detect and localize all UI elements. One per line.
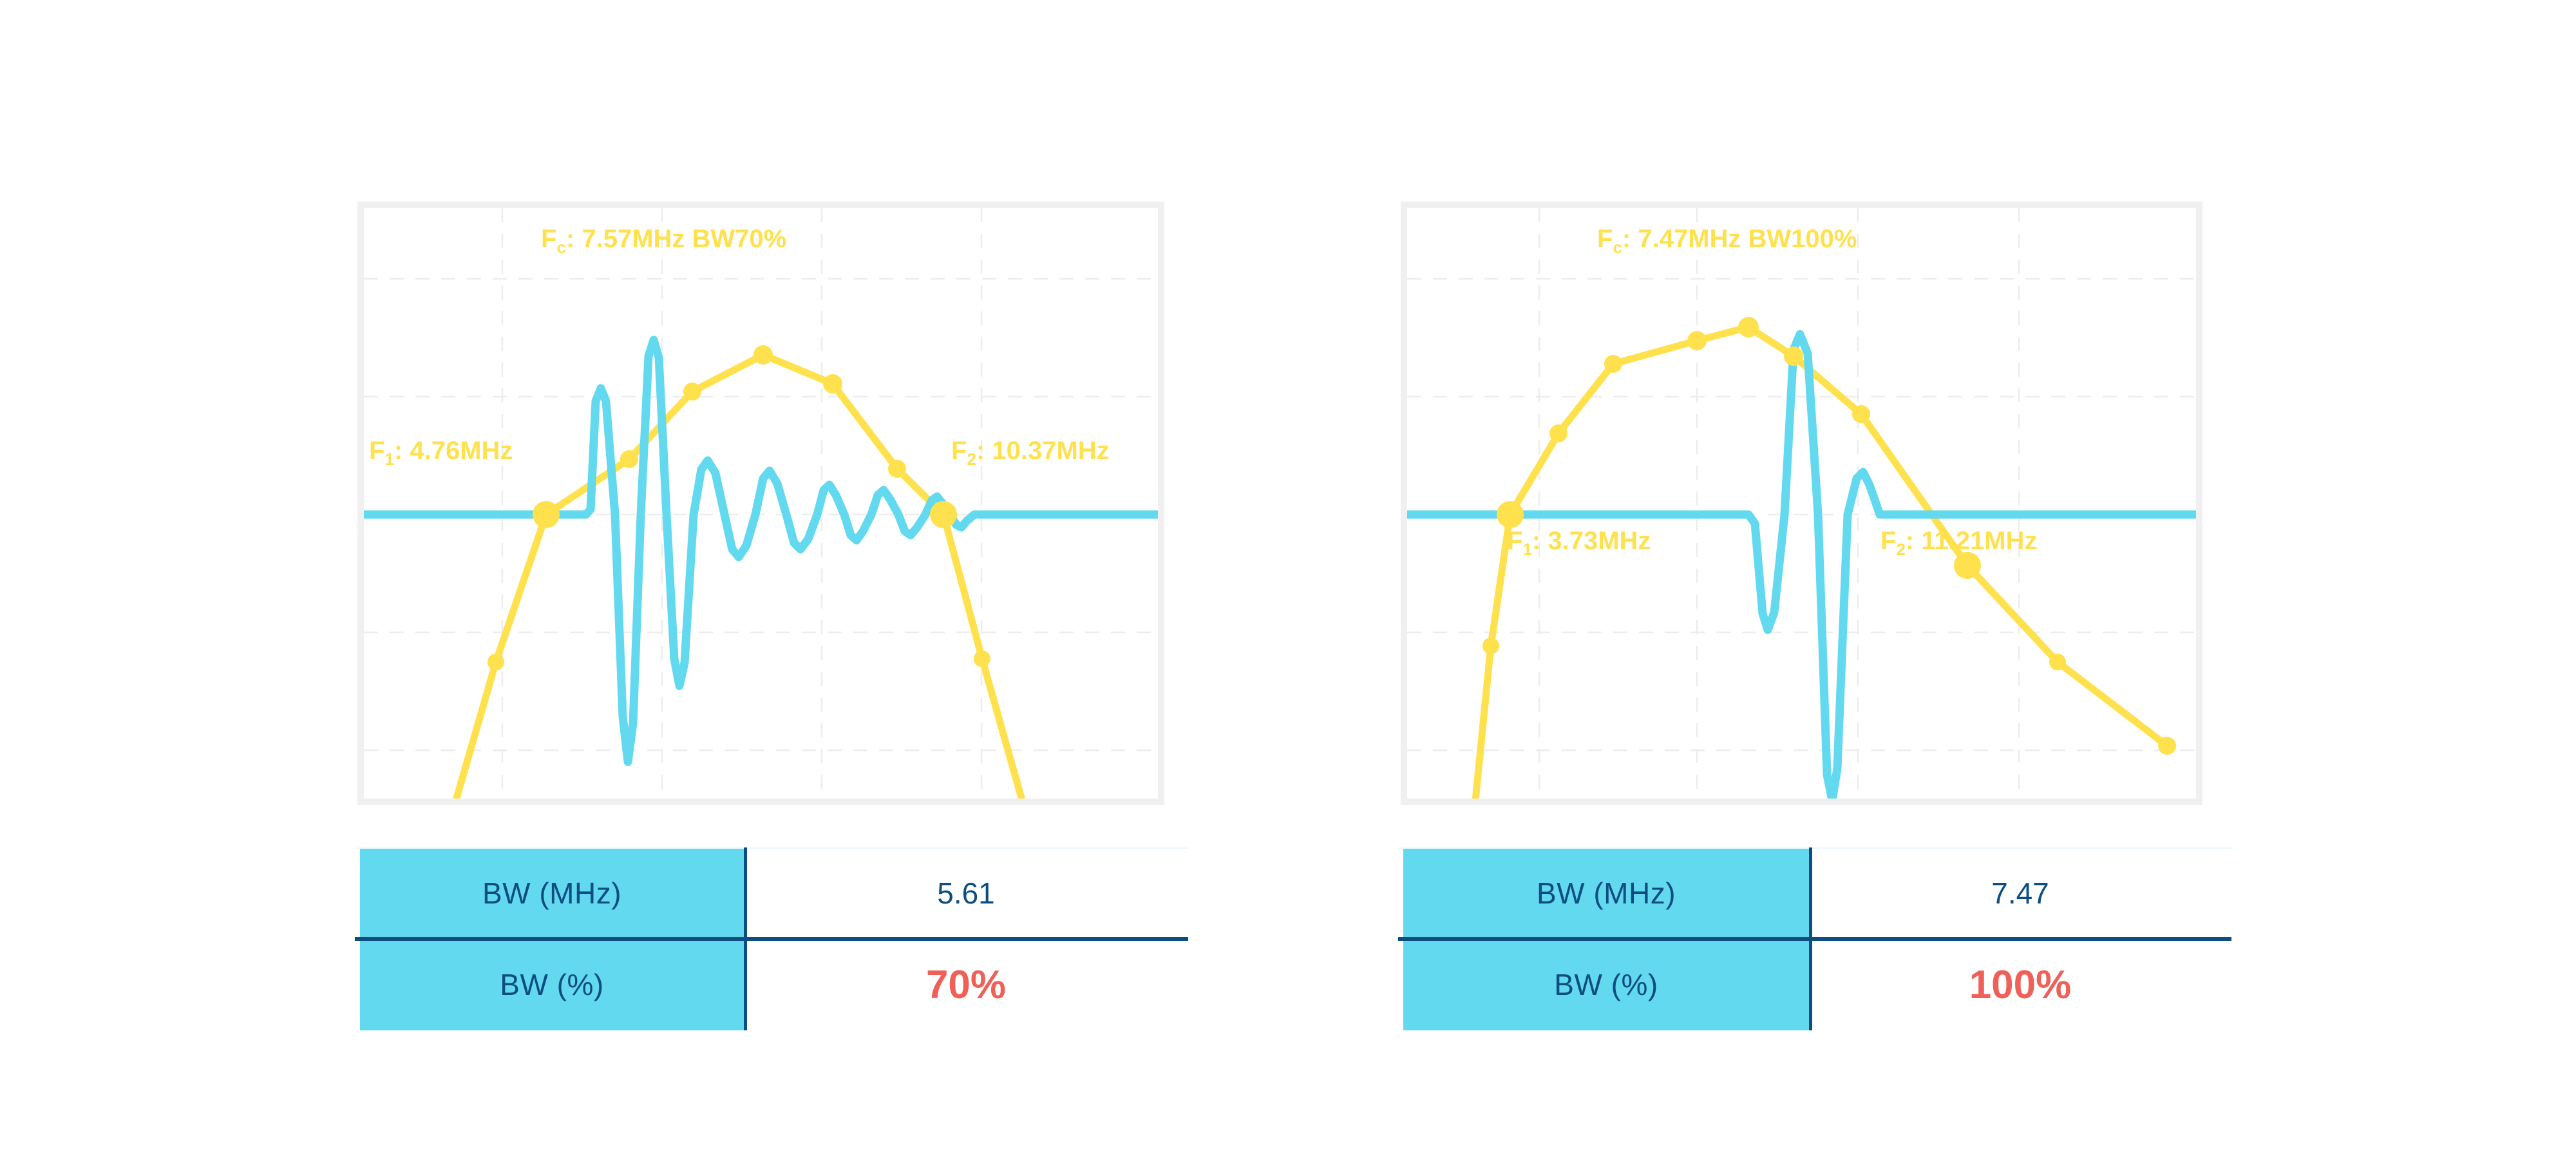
table-value-bw-percent-left: 70% [744,939,1188,1030]
annotation-center-sub-right: c [1613,238,1622,257]
table-value-bw-percent-right: 100% [1809,939,2231,1030]
plot-frame-right: Fc: 7.47MHz BW100% F1: 3.73MHz F2: 11.21… [1401,202,2202,805]
annotation-center-left: Fc: 7.57MHz BW70% [541,225,786,258]
table-value-bw-mhz-right: 7.47 [1809,847,2231,939]
annotation-center-right: Fc: 7.47MHz BW100% [1597,225,1857,258]
annotation-f2-prefix-left: F [951,437,967,465]
table-top-rule [355,847,1188,849]
annotation-center-text-right: : 7.47MHz BW100% [1622,225,1857,253]
annotation-f1-text-right: : 3.73MHz [1532,527,1651,555]
table-top-rule [1398,847,2231,849]
annotation-center-prefix-right: F [1597,225,1613,253]
annotation-f1-sub-right: 1 [1522,540,1531,559]
gridlines-right [1407,208,2196,799]
annotation-f1-prefix-right: F [1507,527,1522,555]
table-mid-rule [1398,937,2231,941]
table-row: BW (%) 70% [360,939,1188,1030]
annotation-f2-prefix-right: F [1880,527,1896,555]
annotation-f2-sub-left: 2 [967,449,976,469]
annotation-center-sub-left: c [556,238,565,257]
plot-area-left: Fc: 7.57MHz BW70% F1: 4.76MHz F2: 10.37M… [364,208,1158,799]
plot-frame-left: Fc: 7.57MHz BW70% F1: 4.76MHz F2: 10.37M… [357,202,1164,805]
annotation-f2-left: F2: 10.37MHz [951,437,1110,469]
annotation-f2-text-right: : 11.21MHz [1906,527,2038,555]
table-row: BW (MHz) 7.47 [1403,847,2231,939]
annotation-f2-right: F2: 11.21MHz [1880,527,2037,560]
annotation-center-prefix-left: F [541,225,556,253]
table-row: BW (%) 100% [1403,939,2231,1030]
annotation-f1-right: F1: 3.73MHz [1507,527,1651,560]
spectrum-curve-left [454,355,1024,799]
table-header-bw-mhz-right: BW (MHz) [1403,847,1809,939]
table-header-bw-mhz-left: BW (MHz) [360,847,744,939]
pulse-waveform-right [1407,334,2196,799]
table-row: BW (MHz) 5.61 [360,847,1188,939]
annotation-f1-sub-left: 1 [384,449,393,469]
annotation-f2-sub-right: 2 [1896,540,1905,559]
annotation-f2-text-left: : 10.37MHz [976,437,1110,465]
bw-table-right: BW (MHz) 7.47 BW (%) 100% [1403,847,2231,1030]
annotation-f1-prefix-left: F [369,437,384,465]
table-header-bw-percent-left: BW (%) [360,939,744,1030]
table-column-divider-right [1809,847,1812,1030]
table-column-divider-left [744,847,747,1030]
table-header-bw-percent-right: BW (%) [1403,939,1809,1030]
annotation-f1-left: F1: 4.76MHz [369,437,513,469]
chart-right [1407,208,2196,799]
table-value-bw-mhz-left: 5.61 [744,847,1188,939]
chart-left [364,208,1158,799]
annotation-f1-text-left: : 4.76MHz [394,437,513,465]
bw-table-left: BW (MHz) 5.61 BW (%) 70% [360,847,1188,1030]
plot-area-right: Fc: 7.47MHz BW100% F1: 3.73MHz F2: 11.21… [1407,208,2196,799]
annotation-center-text-left: : 7.57MHz BW70% [566,225,786,253]
spectrum-markers-left [488,345,990,670]
table-mid-rule [355,937,1188,941]
